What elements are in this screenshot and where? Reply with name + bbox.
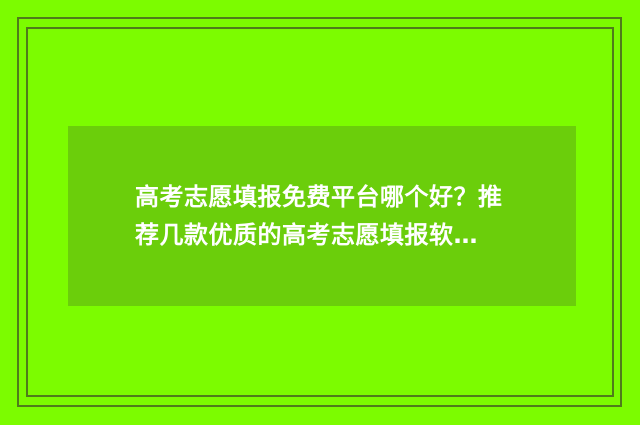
article-card-panel[interactable]: 高考志愿填报免费平台哪个好？推 荐几款优质的高考志愿填报软… — [68, 126, 576, 306]
screenshot-canvas: 高考志愿填报免费平台哪个好？推 荐几款优质的高考志愿填报软… — [0, 0, 640, 425]
article-headline: 高考志愿填报免费平台哪个好？推 荐几款优质的高考志愿填报软… — [135, 178, 536, 254]
